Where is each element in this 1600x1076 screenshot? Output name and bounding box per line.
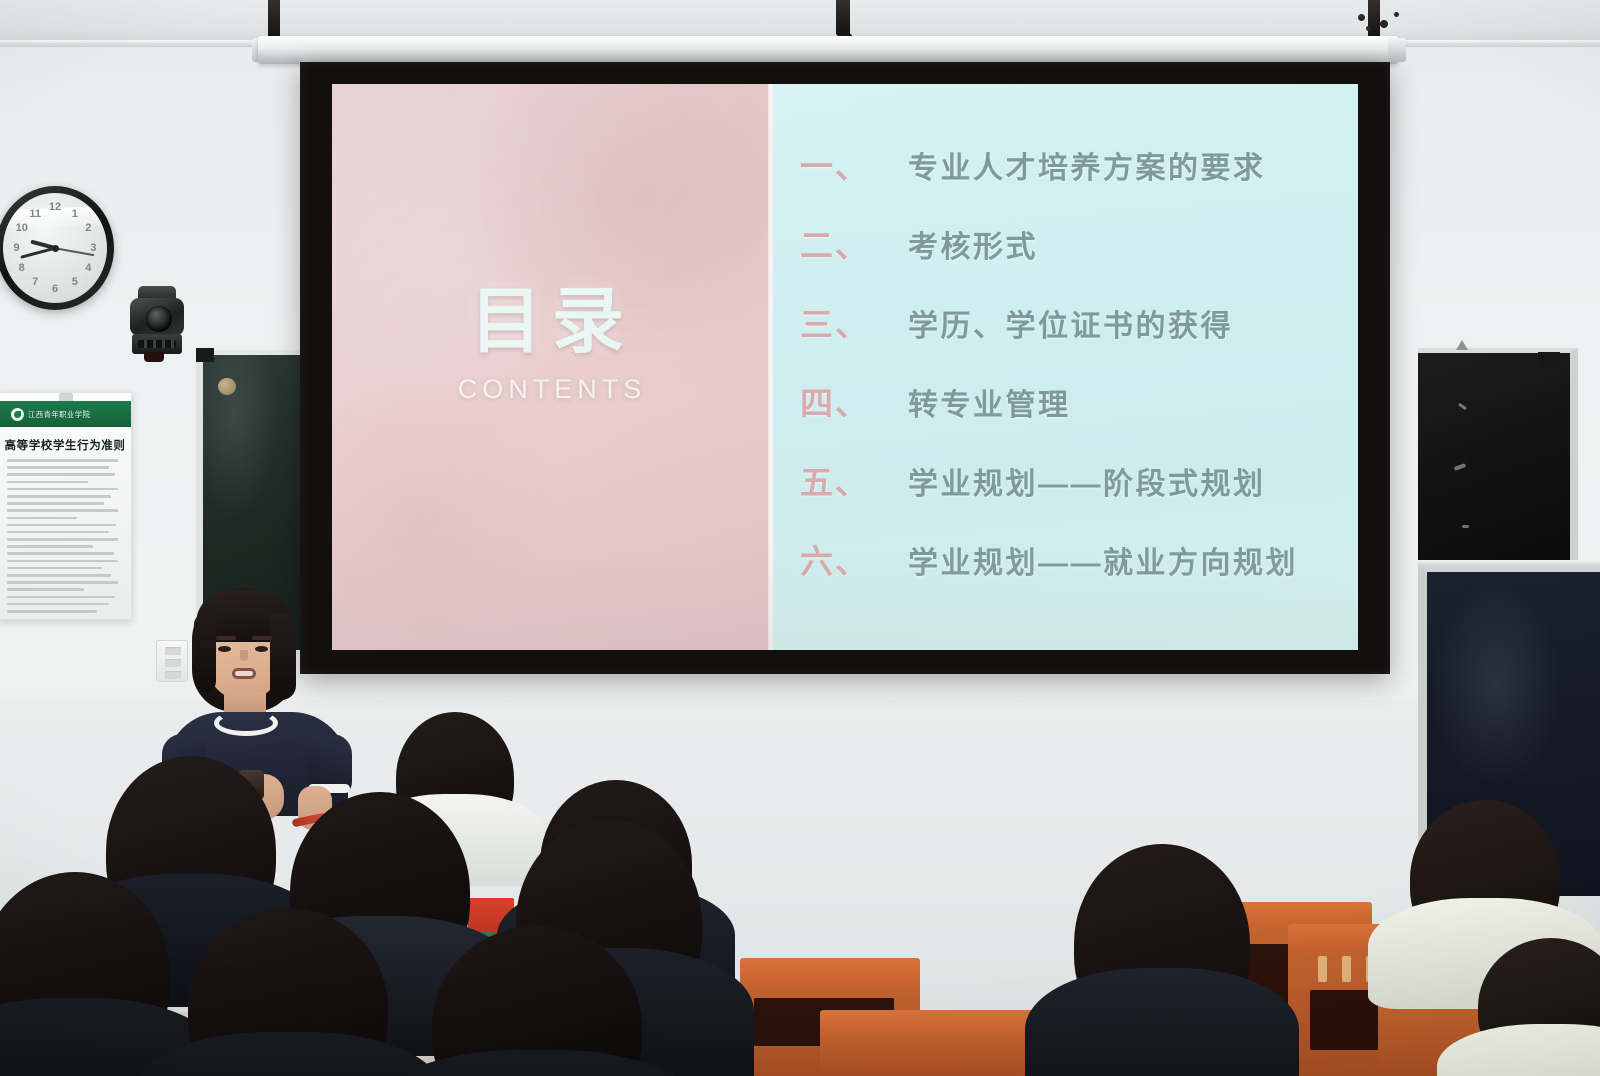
audience-head-back-3 bbox=[1410, 800, 1560, 958]
wall-poster-student-code: 江西青年职业学院 高等学校学生行为准则 bbox=[0, 392, 132, 620]
ptz-camera bbox=[128, 286, 186, 360]
slide-left-panel bbox=[332, 84, 772, 650]
clock-number-10: 10 bbox=[16, 222, 28, 234]
slide-panel-divider bbox=[768, 84, 774, 650]
toc-item-5: 五、 学业规划——阶段式规划 bbox=[800, 456, 1358, 535]
poster-body-text bbox=[7, 459, 123, 617]
toc-label-1: 专业人才培养方案的要求 bbox=[908, 143, 1266, 187]
ceiling-projector-mount bbox=[836, 0, 850, 36]
projection-screen-frame: 目录 CONTENTS 一、 专业人才培养方案的要求 二、 考核形式 三、 学历… bbox=[300, 62, 1390, 674]
blackboard-left-magnet bbox=[218, 378, 236, 395]
screen-roller-cap-right bbox=[1388, 38, 1406, 62]
clock-face: 12 1 2 3 4 5 6 7 8 9 10 11 bbox=[3, 193, 107, 303]
poster-header-bar: 江西青年职业学院 bbox=[0, 401, 131, 427]
school-logo-icon bbox=[11, 408, 24, 421]
camera-lens-icon bbox=[146, 306, 172, 332]
camera-wall-mount bbox=[144, 352, 164, 362]
clock-number-4: 4 bbox=[85, 262, 91, 274]
slide-title-block: 目录 CONTENTS bbox=[332, 286, 772, 405]
toc-number-2: 二、 bbox=[800, 219, 908, 267]
toc-number-6: 六、 bbox=[800, 535, 908, 583]
toc-label-5: 学业规划——阶段式规划 bbox=[908, 459, 1266, 503]
screen-glare bbox=[332, 84, 1358, 650]
camera-vents bbox=[138, 340, 176, 348]
slide-right-panel bbox=[772, 84, 1358, 650]
toc-number-3: 三、 bbox=[800, 298, 908, 346]
clock-number-6: 6 bbox=[52, 283, 58, 295]
clock-number-11: 11 bbox=[29, 208, 41, 220]
blackboard-right-corner-bracket bbox=[1538, 352, 1560, 368]
projected-slide: 目录 CONTENTS 一、 专业人才培养方案的要求 二、 考核形式 三、 学历… bbox=[332, 84, 1358, 650]
clock-number-8: 8 bbox=[19, 262, 25, 274]
toc-item-1: 一、 专业人才培养方案的要求 bbox=[800, 140, 1358, 219]
projector-screen-roller bbox=[258, 36, 1398, 64]
poster-title: 高等学校学生行为准则 bbox=[0, 437, 131, 453]
toc-label-3: 学历、学位证书的获得 bbox=[908, 301, 1233, 345]
clock-center-pin bbox=[52, 245, 59, 252]
toc-number-4: 四、 bbox=[800, 377, 908, 425]
slide-title-cn: 目录 bbox=[332, 286, 772, 358]
clock-number-5: 5 bbox=[72, 276, 78, 288]
presenter-hair-left bbox=[194, 614, 216, 692]
toc-item-3: 三、 学历、学位证书的获得 bbox=[800, 298, 1358, 377]
audience-head-mid-4 bbox=[1074, 844, 1250, 1044]
toc-label-6: 学业规划——就业方向规划 bbox=[908, 538, 1298, 582]
clock-number-3: 3 bbox=[90, 242, 96, 254]
toc-item-4: 四、 转专业管理 bbox=[800, 377, 1358, 456]
ceiling-marks bbox=[1350, 4, 1410, 38]
slide-table-of-contents: 一、 专业人才培养方案的要求 二、 考核形式 三、 学历、学位证书的获得 四、 … bbox=[800, 140, 1358, 614]
poster-school-name: 江西青年职业学院 bbox=[28, 409, 90, 420]
ceiling-bracket-left bbox=[268, 0, 280, 40]
presenter-eye-right bbox=[255, 646, 268, 652]
presenter-mouth bbox=[232, 668, 256, 679]
presenter-collar-trim bbox=[214, 710, 278, 736]
clock-minute-hand bbox=[20, 247, 56, 259]
toc-item-2: 二、 考核形式 bbox=[800, 219, 1358, 298]
toc-number-5: 五、 bbox=[800, 456, 908, 504]
blackboard-right-upper bbox=[1418, 348, 1578, 580]
blackboard-left-corner-bracket bbox=[196, 348, 214, 362]
slide-title-en: CONTENTS bbox=[332, 374, 772, 405]
presenter-nose bbox=[240, 650, 248, 661]
clock-number-2: 2 bbox=[85, 222, 91, 234]
presenter-hair-right bbox=[270, 614, 296, 700]
clock-number-12: 12 bbox=[49, 201, 61, 213]
toc-label-2: 考核形式 bbox=[908, 222, 1038, 266]
toc-label-4: 转专业管理 bbox=[908, 380, 1071, 424]
clock-number-9: 9 bbox=[13, 242, 19, 254]
toc-item-6: 六、 学业规划——就业方向规划 bbox=[800, 535, 1358, 614]
wall-clock: 12 1 2 3 4 5 6 7 8 9 10 11 bbox=[0, 186, 114, 310]
clock-number-7: 7 bbox=[32, 276, 38, 288]
clock-number-1: 1 bbox=[72, 208, 78, 220]
classroom-scene: 12 1 2 3 4 5 6 7 8 9 10 11 江西青年职业学院 高等学校… bbox=[0, 0, 1600, 1076]
presenter-brow-right bbox=[252, 636, 272, 640]
clock-second-hand bbox=[55, 247, 95, 255]
toc-number-1: 一、 bbox=[800, 140, 908, 188]
presenter-eye-left bbox=[218, 646, 231, 652]
presenter-brow-left bbox=[216, 636, 236, 640]
